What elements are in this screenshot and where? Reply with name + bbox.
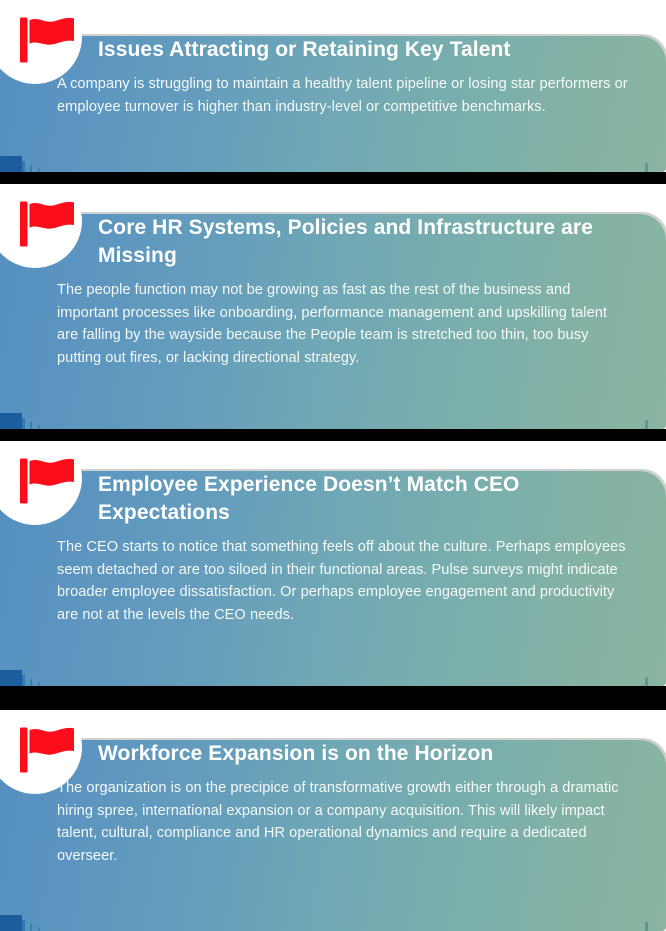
card-description: The people function may not be growing a… xyxy=(0,270,666,369)
card-content: Core HR Systems, Policies and Infrastruc… xyxy=(0,214,666,369)
card-content: Workforce Expansion is on the HorizonThe… xyxy=(0,740,666,867)
card-content: Employee Experience Doesn’t Match CEO Ex… xyxy=(0,471,666,626)
card-title: Employee Experience Doesn’t Match CEO Ex… xyxy=(0,471,666,527)
card-description: The organization is on the precipice of … xyxy=(0,768,666,867)
card-title: Issues Attracting or Retaining Key Talen… xyxy=(0,36,666,64)
card-description: The CEO starts to notice that something … xyxy=(0,527,666,626)
red-flag-icon xyxy=(18,726,80,774)
card-description: A company is struggling to maintain a he… xyxy=(0,64,666,118)
red-flag-icon xyxy=(18,16,80,64)
card-title: Core HR Systems, Policies and Infrastruc… xyxy=(0,214,666,270)
card-title: Workforce Expansion is on the Horizon xyxy=(0,740,666,768)
card-panel: Core HR Systems, Policies and Infrastruc… xyxy=(0,214,666,429)
red-flag-card[interactable]: Core HR Systems, Policies and Infrastruc… xyxy=(0,184,666,429)
card-panel: Employee Experience Doesn’t Match CEO Ex… xyxy=(0,471,666,686)
red-flag-card[interactable]: Employee Experience Doesn’t Match CEO Ex… xyxy=(0,441,666,686)
red-flag-card-board: Issues Attracting or Retaining Key Talen… xyxy=(0,0,666,931)
card-panel: Workforce Expansion is on the HorizonThe… xyxy=(0,740,666,931)
red-flag-card[interactable]: Issues Attracting or Retaining Key Talen… xyxy=(0,0,666,172)
red-flag-icon xyxy=(18,457,80,505)
card-content: Issues Attracting or Retaining Key Talen… xyxy=(0,36,666,118)
card-panel: Issues Attracting or Retaining Key Talen… xyxy=(0,36,666,172)
red-flag-icon xyxy=(18,200,80,248)
red-flag-card[interactable]: Workforce Expansion is on the HorizonThe… xyxy=(0,710,666,931)
